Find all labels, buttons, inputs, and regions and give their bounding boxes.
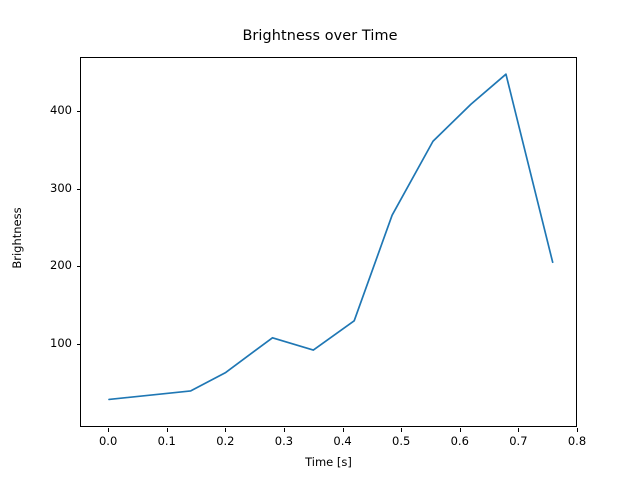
x-axis-label: Time [s] [80, 455, 577, 469]
brightness-series-line [109, 74, 553, 399]
x-tick-label: 0.1 [137, 434, 197, 448]
y-tick-label: 100 [22, 336, 72, 350]
x-tick-label: 0.5 [371, 434, 431, 448]
x-tick-mark [108, 428, 109, 432]
x-tick-mark [577, 428, 578, 432]
y-tick-mark [77, 111, 81, 112]
x-tick-mark [343, 428, 344, 432]
x-tick-mark [401, 428, 402, 432]
y-tick-label: 300 [22, 181, 72, 195]
x-tick-label: 0.2 [195, 434, 255, 448]
x-tick-label: 0.7 [488, 434, 548, 448]
line-plot-svg [81, 58, 576, 426]
x-tick-label: 0.6 [430, 434, 490, 448]
y-tick-mark [77, 266, 81, 267]
y-tick-mark [77, 344, 81, 345]
chart-title: Brightness over Time [0, 28, 640, 44]
x-tick-mark [518, 428, 519, 432]
y-tick-mark [77, 189, 81, 190]
x-tick-label: 0.4 [313, 434, 373, 448]
x-tick-mark [284, 428, 285, 432]
y-axis-label: Brightness [10, 148, 24, 328]
x-tick-mark [167, 428, 168, 432]
x-tick-mark [225, 428, 226, 432]
x-tick-mark [460, 428, 461, 432]
plot-axes-area [80, 57, 577, 427]
x-tick-label: 0.0 [78, 434, 138, 448]
x-tick-label: 0.8 [547, 434, 607, 448]
figure-canvas: Brightness over Time 0.00.10.20.30.40.50… [0, 0, 640, 480]
x-tick-label: 0.3 [254, 434, 314, 448]
y-tick-label: 400 [22, 103, 72, 117]
y-tick-label: 200 [22, 258, 72, 272]
